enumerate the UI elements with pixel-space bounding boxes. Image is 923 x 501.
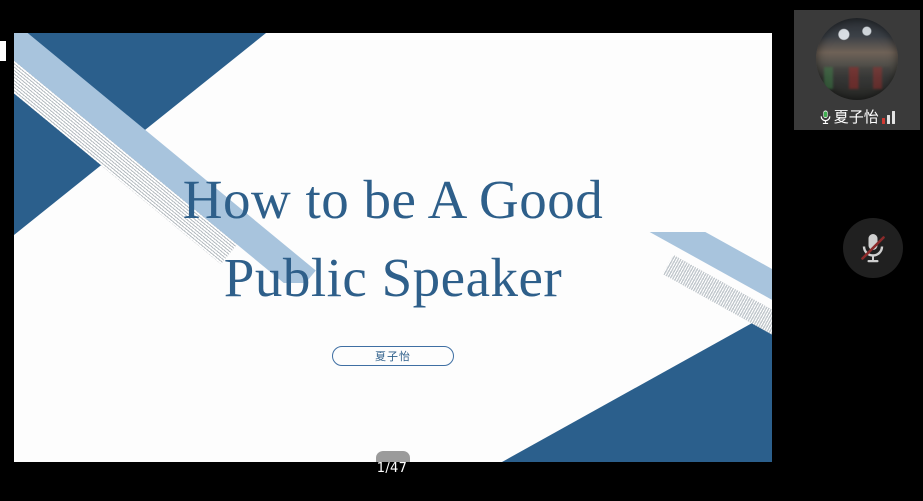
- decoration-dark-triangle: [502, 312, 772, 462]
- signal-strength-icon: [882, 111, 896, 124]
- app-stage: How to be A Good Public Speaker 夏子怡 1/47…: [0, 0, 923, 501]
- mute-toggle-button[interactable]: [843, 218, 903, 278]
- microphone-on-icon: [819, 110, 832, 125]
- microphone-muted-icon: [858, 231, 888, 265]
- slide-subtitle-pill: 夏子怡: [332, 346, 454, 366]
- participant-avatar: [816, 18, 898, 100]
- participant-footer: 夏子怡: [794, 106, 920, 128]
- participant-name: 夏子怡: [834, 110, 879, 125]
- participant-video-tile[interactable]: 夏子怡: [794, 10, 920, 130]
- shared-screen-region[interactable]: How to be A Good Public Speaker 夏子怡: [14, 33, 772, 462]
- slide-subtitle-text: 夏子怡: [375, 351, 411, 362]
- presentation-slide[interactable]: How to be A Good Public Speaker 夏子怡: [14, 33, 772, 462]
- participants-rail: 夏子怡: [790, 0, 923, 501]
- page-indicator: 1/47: [377, 461, 407, 477]
- screen-edge-sliver: [0, 41, 6, 61]
- slide-title: How to be A Good Public Speaker: [14, 161, 772, 317]
